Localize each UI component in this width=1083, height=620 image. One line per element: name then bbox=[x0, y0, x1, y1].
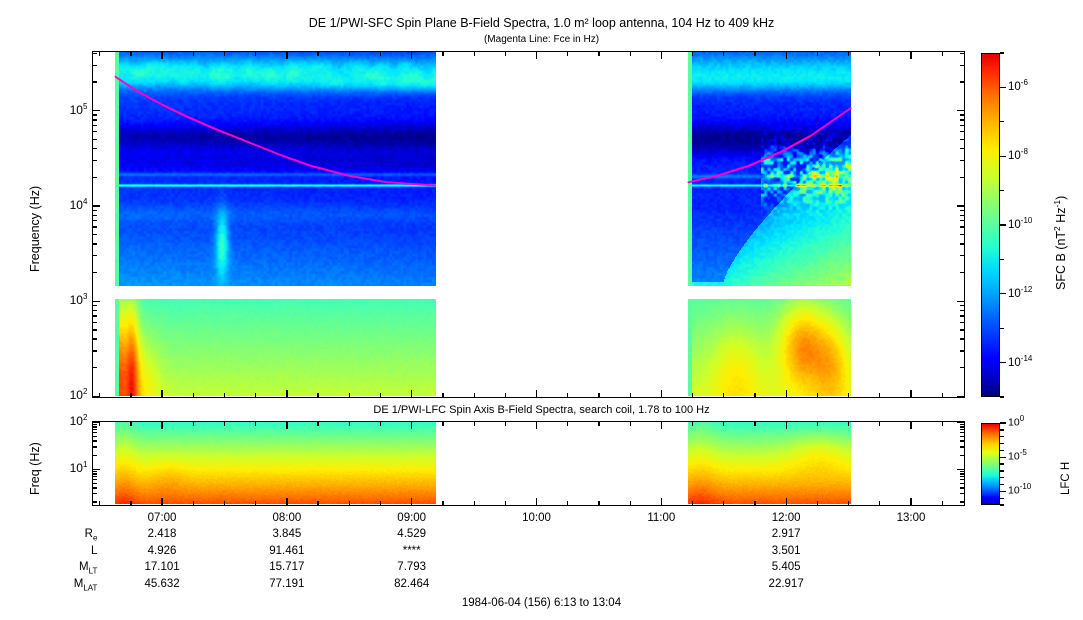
x-tick bbox=[536, 52, 537, 59]
x-minor-tick bbox=[692, 501, 693, 505]
sfc-colorbar bbox=[981, 53, 1000, 397]
sfc-colorbar-minor-tick bbox=[1000, 259, 1004, 260]
lfc-y-tick bbox=[957, 469, 964, 470]
x-minor-tick bbox=[474, 52, 475, 56]
x-tick bbox=[161, 52, 162, 59]
lfc-y-minor-tick bbox=[960, 440, 964, 441]
x-tick-label: 10:00 bbox=[507, 512, 567, 524]
ephemeris-row-label: MLAT bbox=[47, 578, 97, 592]
lfc-colorbar-minor-tick bbox=[1000, 484, 1004, 485]
sfc-y-minor-tick bbox=[93, 243, 97, 244]
sfc-y-minor-tick bbox=[960, 139, 964, 140]
sfc-y-tick-label: 102 bbox=[43, 387, 87, 402]
lfc-y-minor-tick bbox=[93, 501, 97, 502]
sfc-y-minor-tick bbox=[960, 148, 964, 149]
x-tick-label: 13:00 bbox=[881, 512, 941, 524]
x-minor-tick bbox=[817, 422, 818, 426]
lfc-y-minor-tick bbox=[960, 426, 964, 427]
x-minor-tick bbox=[380, 52, 381, 56]
page-title: DE 1/PWI-SFC Spin Plane B-Field Spectra,… bbox=[0, 16, 1083, 30]
x-minor-tick bbox=[848, 422, 849, 426]
x-minor-tick bbox=[723, 501, 724, 505]
sfc-y-minor-tick bbox=[93, 310, 97, 311]
x-minor-tick bbox=[879, 52, 880, 56]
sfc-y-tick bbox=[93, 301, 100, 302]
lfc-y-minor-tick bbox=[93, 455, 97, 456]
x-minor-tick bbox=[630, 393, 631, 397]
ephemeris-row: MLT17.10115.7177.7935.405 bbox=[0, 561, 1083, 578]
x-tick bbox=[286, 422, 287, 429]
lfc-y-minor-tick bbox=[960, 479, 964, 480]
lfc-colorbar-tick bbox=[1000, 457, 1006, 458]
x-minor-tick bbox=[754, 501, 755, 505]
ephemeris-cell: 3.501 bbox=[746, 545, 826, 557]
sfc-y-minor-tick bbox=[960, 234, 964, 235]
sfc-y-minor-tick bbox=[93, 125, 97, 126]
sfc-colorbar-tick bbox=[1000, 293, 1006, 294]
x-tick bbox=[286, 390, 287, 397]
sfc-y-minor-tick bbox=[93, 160, 97, 161]
ephemeris-cell: 77.191 bbox=[247, 578, 327, 590]
sfc-y-tick-label: 105 bbox=[43, 102, 87, 117]
lfc-colorbar bbox=[981, 423, 1000, 505]
sfc-colorbar-tick-label: 10-14 bbox=[1008, 354, 1032, 369]
sfc-y-tick bbox=[957, 396, 964, 397]
x-minor-tick bbox=[817, 501, 818, 505]
sfc-y-minor-tick bbox=[93, 315, 97, 316]
sfc-y-minor-tick bbox=[960, 177, 964, 178]
x-minor-tick bbox=[848, 52, 849, 56]
x-tick-label: 09:00 bbox=[382, 512, 442, 524]
sfc-y-minor-tick bbox=[960, 114, 964, 115]
x-minor-tick bbox=[317, 501, 318, 505]
lfc-colorbar-minor-tick bbox=[1000, 429, 1004, 430]
sfc-y-tick bbox=[957, 110, 964, 111]
lfc-colorbar-minor-tick bbox=[1000, 436, 1004, 437]
sfc-y-minor-tick bbox=[93, 350, 97, 351]
ephemeris-row: L4.92691.461****3.501 bbox=[0, 545, 1083, 562]
x-minor-tick bbox=[505, 501, 506, 505]
x-minor-tick bbox=[193, 393, 194, 397]
x-minor-tick bbox=[817, 393, 818, 397]
x-tick-label: 07:00 bbox=[132, 512, 192, 524]
ephemeris-cell: 2.917 bbox=[746, 528, 826, 540]
sfc-y-minor-tick bbox=[93, 226, 97, 227]
sfc-y-minor-tick bbox=[93, 177, 97, 178]
lfc-colorbar-minor-tick bbox=[1000, 450, 1004, 451]
sfc-y-minor-tick bbox=[960, 125, 964, 126]
x-minor-tick bbox=[630, 422, 631, 426]
lfc-y-tick-label: 102 bbox=[43, 413, 87, 428]
x-minor-tick bbox=[380, 501, 381, 505]
x-minor-tick bbox=[99, 501, 100, 505]
lfc-y-minor-tick bbox=[960, 432, 964, 433]
x-minor-tick bbox=[567, 393, 568, 397]
lfc-colorbar-minor-tick bbox=[1000, 477, 1004, 478]
lfc-colorbar-tick-label: 100 bbox=[1008, 414, 1024, 429]
sfc-y-minor-tick bbox=[93, 329, 97, 330]
sfc-y-minor-tick bbox=[93, 139, 97, 140]
x-minor-tick bbox=[99, 422, 100, 426]
sfc-y-minor-tick bbox=[960, 215, 964, 216]
x-tick-label: 08:00 bbox=[257, 512, 317, 524]
lfc-y-minor-tick bbox=[93, 426, 97, 427]
sfc-y-minor-tick bbox=[960, 322, 964, 323]
lfc-colorbar-label: LFC H bbox=[1060, 462, 1072, 495]
lfc-y-minor-tick bbox=[93, 473, 97, 474]
sfc-y-minor-tick bbox=[93, 81, 97, 82]
x-minor-tick bbox=[224, 52, 225, 56]
ephemeris-cell: 2.418 bbox=[122, 528, 202, 540]
x-tick bbox=[910, 390, 911, 397]
lfc-y-minor-tick bbox=[960, 436, 964, 437]
lfc-y-minor-tick bbox=[93, 483, 97, 484]
x-tick bbox=[910, 52, 911, 59]
sfc-colorbar-minor-tick bbox=[1000, 396, 1004, 397]
lfc-y-minor-tick bbox=[93, 471, 97, 472]
ephemeris-row: MLAT45.63277.19182.46422.917 bbox=[0, 578, 1083, 595]
x-minor-tick bbox=[723, 422, 724, 426]
sfc-y-minor-tick bbox=[93, 65, 97, 66]
sfc-y-tick bbox=[957, 301, 964, 302]
lfc-y-minor-tick bbox=[93, 493, 97, 494]
x-minor-tick bbox=[598, 393, 599, 397]
x-minor-tick bbox=[848, 393, 849, 397]
x-minor-tick bbox=[567, 501, 568, 505]
x-minor-tick bbox=[130, 422, 131, 426]
x-minor-tick bbox=[224, 393, 225, 397]
sfc-y-minor-tick bbox=[93, 114, 97, 115]
sfc-spectrogram bbox=[93, 52, 963, 396]
sfc-colorbar-tick bbox=[1000, 156, 1006, 157]
x-minor-tick bbox=[474, 422, 475, 426]
x-minor-tick bbox=[754, 422, 755, 426]
sfc-y-tick-label: 104 bbox=[43, 197, 87, 212]
x-minor-tick bbox=[879, 422, 880, 426]
sfc-y-minor-tick bbox=[93, 119, 97, 120]
ephemeris-cell: 5.405 bbox=[746, 561, 826, 573]
sfc-y-minor-tick bbox=[960, 272, 964, 273]
x-minor-tick bbox=[942, 422, 943, 426]
x-minor-tick bbox=[754, 393, 755, 397]
x-minor-tick bbox=[224, 422, 225, 426]
sfc-colorbar-minor-tick bbox=[1000, 328, 1004, 329]
x-minor-tick bbox=[598, 52, 599, 56]
x-minor-tick bbox=[224, 501, 225, 505]
x-minor-tick bbox=[474, 501, 475, 505]
x-minor-tick bbox=[505, 393, 506, 397]
x-minor-tick bbox=[723, 52, 724, 56]
x-minor-tick bbox=[99, 52, 100, 56]
x-minor-tick bbox=[567, 52, 568, 56]
lfc-y-minor-tick bbox=[960, 424, 964, 425]
lfc-y-minor-tick bbox=[960, 483, 964, 484]
x-minor-tick bbox=[349, 52, 350, 56]
sfc-colorbar-tick bbox=[1000, 362, 1006, 363]
x-tick bbox=[910, 422, 911, 429]
sfc-y-minor-tick bbox=[960, 81, 964, 82]
x-tick bbox=[910, 498, 911, 505]
lfc-y-minor-tick bbox=[960, 446, 964, 447]
x-minor-tick bbox=[474, 393, 475, 397]
sfc-y-tick bbox=[957, 205, 964, 206]
x-minor-tick bbox=[723, 393, 724, 397]
sfc-y-minor-tick bbox=[960, 310, 964, 311]
lfc-y-minor-tick bbox=[960, 455, 964, 456]
x-minor-tick bbox=[692, 393, 693, 397]
lfc-colorbar-minor-tick bbox=[1000, 498, 1004, 499]
x-minor-tick bbox=[130, 52, 131, 56]
ephemeris-cell: 3.845 bbox=[247, 528, 327, 540]
x-tick bbox=[536, 422, 537, 429]
x-tick bbox=[286, 52, 287, 59]
lfc-y-minor-tick bbox=[93, 440, 97, 441]
lfc-y-minor-tick bbox=[960, 493, 964, 494]
sfc-y-tick bbox=[93, 110, 100, 111]
lfc-panel-title: DE 1/PWI-LFC Spin Axis B-Field Spectra, … bbox=[0, 404, 1083, 416]
sfc-y-minor-tick bbox=[960, 255, 964, 256]
x-minor-tick bbox=[317, 422, 318, 426]
lfc-colorbar-minor-tick bbox=[1000, 470, 1004, 471]
lfc-colorbar-minor-tick bbox=[1000, 443, 1004, 444]
x-tick bbox=[286, 498, 287, 505]
lfc-colorbar-minor-tick bbox=[1000, 504, 1004, 505]
x-minor-tick bbox=[349, 501, 350, 505]
sfc-y-minor-tick bbox=[93, 234, 97, 235]
x-minor-tick bbox=[442, 422, 443, 426]
lfc-colorbar-tick bbox=[1000, 491, 1006, 492]
x-tick bbox=[411, 422, 412, 429]
x-minor-tick bbox=[630, 52, 631, 56]
lfc-spectrogram bbox=[93, 422, 963, 504]
x-minor-tick bbox=[567, 422, 568, 426]
lfc-colorbar-tick-label: 10-5 bbox=[1008, 448, 1027, 463]
ephemeris-table: Re2.4183.8454.5292.917L4.92691.461****3.… bbox=[0, 528, 1083, 594]
sfc-y-minor-tick bbox=[93, 148, 97, 149]
x-minor-tick bbox=[99, 393, 100, 397]
lfc-y-tick-label: 101 bbox=[43, 460, 87, 475]
ephemeris-cell: 22.917 bbox=[746, 578, 826, 590]
x-minor-tick bbox=[317, 393, 318, 397]
x-minor-tick bbox=[130, 393, 131, 397]
x-minor-tick bbox=[255, 501, 256, 505]
sfc-colorbar-tick-label: 10-10 bbox=[1008, 216, 1032, 231]
x-tick bbox=[536, 498, 537, 505]
lfc-colorbar-tick bbox=[1000, 422, 1006, 423]
x-minor-tick bbox=[193, 422, 194, 426]
lfc-y-minor-tick bbox=[960, 473, 964, 474]
x-minor-tick bbox=[193, 501, 194, 505]
x-tick-label: 11:00 bbox=[631, 512, 691, 524]
x-minor-tick bbox=[598, 422, 599, 426]
sfc-y-minor-tick bbox=[960, 160, 964, 161]
sfc-y-minor-tick bbox=[960, 131, 964, 132]
ephemeris-row-label: L bbox=[47, 545, 97, 557]
sfc-colorbar-minor-tick bbox=[1000, 121, 1004, 122]
ephemeris-cell: 15.717 bbox=[247, 561, 327, 573]
sfc-y-minor-tick bbox=[93, 131, 97, 132]
sfc-y-minor-tick bbox=[93, 215, 97, 216]
x-tick-label: 12:00 bbox=[756, 512, 816, 524]
sfc-y-minor-tick bbox=[960, 226, 964, 227]
x-tick bbox=[411, 52, 412, 59]
sfc-colorbar-tick bbox=[1000, 224, 1006, 225]
ephemeris-cell: 45.632 bbox=[122, 578, 202, 590]
x-minor-tick bbox=[317, 52, 318, 56]
ephemeris-cell: 4.926 bbox=[122, 545, 202, 557]
x-minor-tick bbox=[692, 422, 693, 426]
sfc-y-minor-tick bbox=[960, 305, 964, 306]
x-tick bbox=[411, 390, 412, 397]
x-minor-tick bbox=[942, 501, 943, 505]
sfc-y-axis-label: Frequency (Hz) bbox=[28, 186, 42, 272]
sfc-y-minor-tick bbox=[960, 220, 964, 221]
sfc-y-minor-tick bbox=[960, 119, 964, 120]
lfc-y-minor-tick bbox=[960, 476, 964, 477]
x-tick bbox=[786, 390, 787, 397]
sfc-y-minor-tick bbox=[960, 315, 964, 316]
x-tick bbox=[411, 498, 412, 505]
x-minor-tick bbox=[130, 501, 131, 505]
x-minor-tick bbox=[817, 52, 818, 56]
lfc-y-axis-label: Freq (Hz) bbox=[28, 443, 42, 496]
x-minor-tick bbox=[349, 422, 350, 426]
lfc-colorbar-tick-label: 10-10 bbox=[1008, 482, 1031, 497]
x-minor-tick bbox=[942, 52, 943, 56]
ephemeris-cell: 7.793 bbox=[372, 561, 452, 573]
x-tick bbox=[786, 52, 787, 59]
x-tick bbox=[161, 498, 162, 505]
sfc-colorbar-label: SFC B (nT2 Hz-1) bbox=[1052, 196, 1068, 290]
sfc-y-minor-tick bbox=[93, 210, 97, 211]
ephemeris-cell: **** bbox=[372, 545, 452, 557]
sfc-y-minor-tick bbox=[93, 338, 97, 339]
x-minor-tick bbox=[754, 52, 755, 56]
x-minor-tick bbox=[598, 501, 599, 505]
sfc-y-minor-tick bbox=[960, 53, 964, 54]
sfc-y-minor-tick bbox=[93, 322, 97, 323]
lfc-colorbar-minor-tick bbox=[1000, 463, 1004, 464]
x-minor-tick bbox=[380, 422, 381, 426]
lfc-y-minor-tick bbox=[960, 487, 964, 488]
x-minor-tick bbox=[692, 52, 693, 56]
lfc-y-tick bbox=[957, 422, 964, 423]
date-footer: 1984-06-04 (156) 6:13 to 13:04 bbox=[0, 597, 1083, 609]
sfc-colorbar-tick-label: 10-12 bbox=[1008, 285, 1032, 300]
x-minor-tick bbox=[255, 52, 256, 56]
sfc-y-minor-tick bbox=[960, 329, 964, 330]
lfc-y-minor-tick bbox=[93, 436, 97, 437]
x-minor-tick bbox=[255, 393, 256, 397]
lfc-y-minor-tick bbox=[93, 424, 97, 425]
x-tick bbox=[161, 422, 162, 429]
sfc-y-tick bbox=[93, 205, 100, 206]
sfc-colorbar-minor-tick bbox=[1000, 190, 1004, 191]
x-minor-tick bbox=[442, 393, 443, 397]
x-minor-tick bbox=[442, 52, 443, 56]
sfc-y-minor-tick bbox=[960, 350, 964, 351]
sfc-y-minor-tick bbox=[93, 305, 97, 306]
lfc-y-minor-tick bbox=[93, 429, 97, 430]
sfc-colorbar-tick-label: 10-6 bbox=[1008, 78, 1028, 93]
x-tick bbox=[161, 390, 162, 397]
sfc-colorbar-tick bbox=[1000, 87, 1006, 88]
sfc-y-minor-tick bbox=[93, 255, 97, 256]
x-minor-tick bbox=[442, 501, 443, 505]
x-minor-tick bbox=[879, 501, 880, 505]
sfc-y-minor-tick bbox=[93, 272, 97, 273]
ephemeris-cell: 91.461 bbox=[247, 545, 327, 557]
x-minor-tick bbox=[879, 393, 880, 397]
x-tick bbox=[661, 52, 662, 59]
x-tick bbox=[661, 498, 662, 505]
x-tick bbox=[661, 422, 662, 429]
x-tick bbox=[786, 422, 787, 429]
lfc-y-tick bbox=[93, 469, 100, 470]
x-minor-tick bbox=[848, 501, 849, 505]
x-minor-tick bbox=[349, 393, 350, 397]
x-minor-tick bbox=[505, 422, 506, 426]
sfc-y-minor-tick bbox=[960, 338, 964, 339]
lfc-y-minor-tick bbox=[93, 476, 97, 477]
ephemeris-cell: 4.529 bbox=[372, 528, 452, 540]
x-minor-tick bbox=[505, 52, 506, 56]
x-tick bbox=[661, 390, 662, 397]
lfc-y-minor-tick bbox=[93, 446, 97, 447]
x-minor-tick bbox=[255, 422, 256, 426]
sfc-y-minor-tick bbox=[93, 53, 97, 54]
x-minor-tick bbox=[630, 501, 631, 505]
ephemeris-row-label: Re bbox=[47, 528, 97, 542]
ephemeris-row-label: MLT bbox=[47, 561, 97, 575]
sfc-y-minor-tick bbox=[960, 243, 964, 244]
x-minor-tick bbox=[193, 52, 194, 56]
lfc-y-minor-tick bbox=[93, 487, 97, 488]
ephemeris-row: Re2.4183.8454.5292.917 bbox=[0, 528, 1083, 545]
lfc-y-minor-tick bbox=[93, 432, 97, 433]
lfc-y-minor-tick bbox=[960, 471, 964, 472]
sfc-y-minor-tick bbox=[960, 65, 964, 66]
main-subtitle: (Magenta Line: Fce in Hz) bbox=[0, 34, 1083, 45]
sfc-y-minor-tick bbox=[93, 367, 97, 368]
sfc-y-minor-tick bbox=[93, 220, 97, 221]
lfc-y-minor-tick bbox=[960, 429, 964, 430]
sfc-y-minor-tick bbox=[960, 210, 964, 211]
x-tick bbox=[536, 390, 537, 397]
lfc-y-minor-tick bbox=[93, 479, 97, 480]
sfc-y-minor-tick bbox=[960, 367, 964, 368]
ephemeris-cell: 82.464 bbox=[372, 578, 452, 590]
sfc-y-tick-label: 103 bbox=[43, 292, 87, 307]
x-tick bbox=[786, 498, 787, 505]
ephemeris-cell: 17.101 bbox=[122, 561, 202, 573]
x-minor-tick bbox=[942, 393, 943, 397]
sfc-colorbar-tick-label: 10-8 bbox=[1008, 147, 1028, 162]
x-minor-tick bbox=[380, 393, 381, 397]
lfc-y-minor-tick bbox=[960, 501, 964, 502]
sfc-colorbar-minor-tick bbox=[1000, 52, 1004, 53]
